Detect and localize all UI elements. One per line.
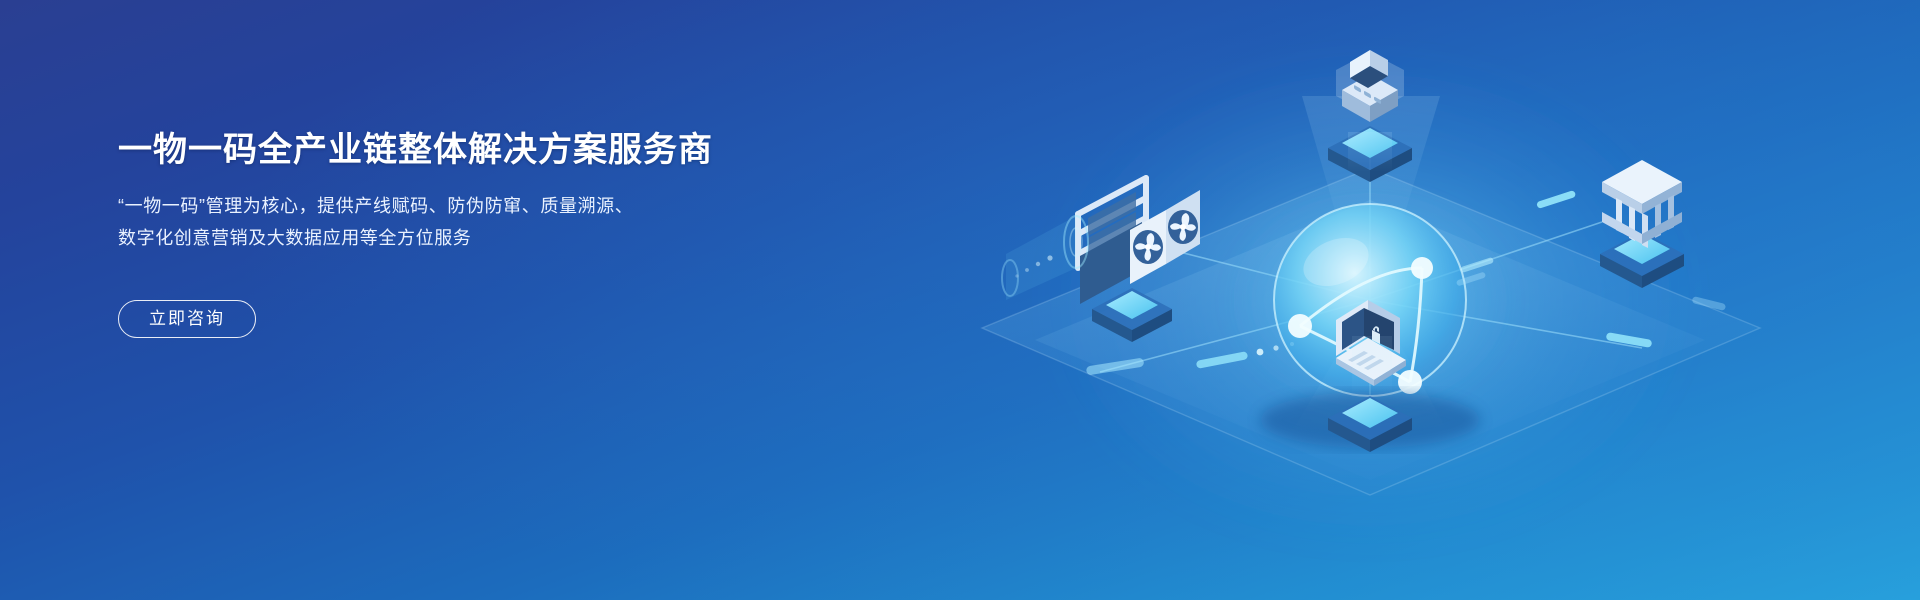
hero-illustration: [900, 0, 1920, 600]
page-title: 一物一码全产业链整体解决方案服务商: [118, 128, 838, 172]
subtitle-line-1: “一物一码”管理为核心，提供产线赋码、防伪防窜、质量溯源、: [118, 190, 838, 222]
subtitle-line-2: 数字化创意营销及大数据应用等全方位服务: [118, 222, 838, 254]
consult-now-button[interactable]: 立即咨询: [118, 300, 256, 338]
hero-subtitle: “一物一码”管理为核心，提供产线赋码、防伪防窜、质量溯源、 数字化创意营销及大数…: [118, 190, 838, 254]
bank-building-icon: [1600, 160, 1684, 288]
hero-copy-block: 一物一码全产业链整体解决方案服务商 “一物一码”管理为核心，提供产线赋码、防伪防…: [118, 128, 838, 338]
hero-banner: 一物一码全产业链整体解决方案服务商 “一物一码”管理为核心，提供产线赋码、防伪防…: [0, 0, 1920, 600]
